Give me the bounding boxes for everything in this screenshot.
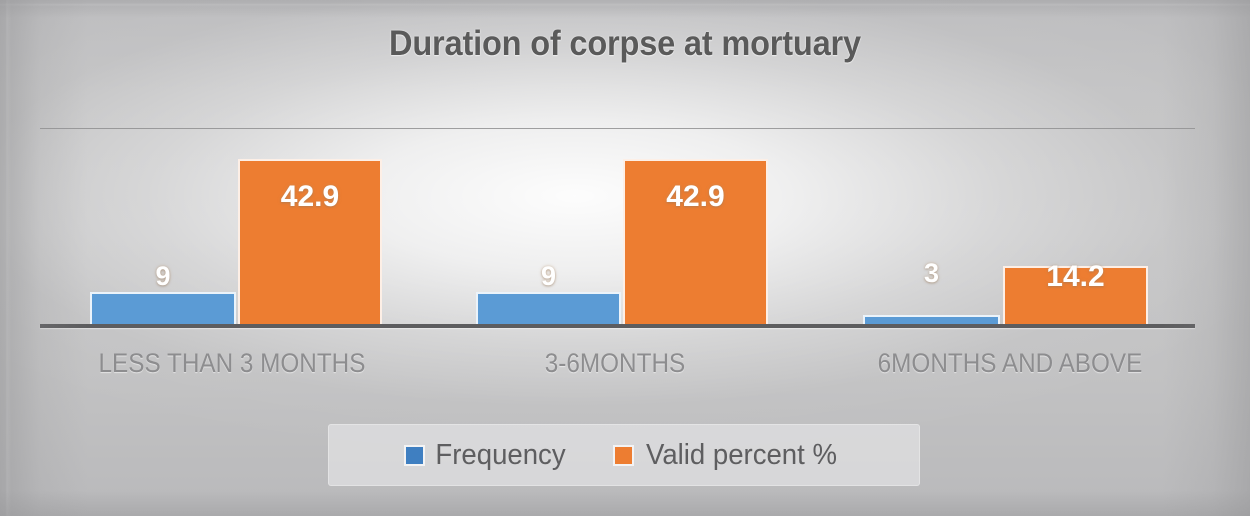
data-label-valid-percent-3: 14.2 — [1003, 260, 1148, 294]
legend-item-frequency[interactable]: Frequency — [406, 439, 569, 472]
legend-item-valid-percent[interactable]: Valid percent % — [615, 439, 842, 472]
bar-frequency-2[interactable] — [476, 292, 621, 328]
legend-label-valid-percent: Valid percent % — [646, 439, 837, 472]
plot-area — [40, 128, 1195, 328]
category-axis-line — [40, 324, 1195, 328]
data-label-frequency-2: 9 — [476, 261, 621, 292]
blue-square-icon — [406, 447, 423, 464]
chart-title: Duration of corpse at mortuary — [44, 24, 1207, 64]
chart-legend: Frequency Valid percent % — [328, 424, 920, 486]
data-label-frequency-1: 9 — [90, 261, 236, 292]
gridline-top — [40, 128, 1195, 129]
data-label-valid-percent-2: 42.9 — [623, 180, 768, 214]
bar-frequency-1[interactable] — [90, 292, 236, 328]
category-label-2: 3-6MONTHS — [444, 348, 786, 379]
data-label-valid-percent-1: 42.9 — [238, 180, 382, 214]
category-label-1: LESS THAN 3 MONTHS — [45, 348, 419, 379]
category-label-3: 6MONTHS AND ABOVE — [821, 348, 1199, 379]
legend-label-frequency: Frequency — [435, 439, 565, 472]
chart-screenshot: Duration of corpse at mortuary 9 42.9 9 … — [0, 0, 1250, 516]
orange-square-icon — [615, 447, 632, 464]
data-label-frequency-3: 3 — [863, 258, 1000, 289]
